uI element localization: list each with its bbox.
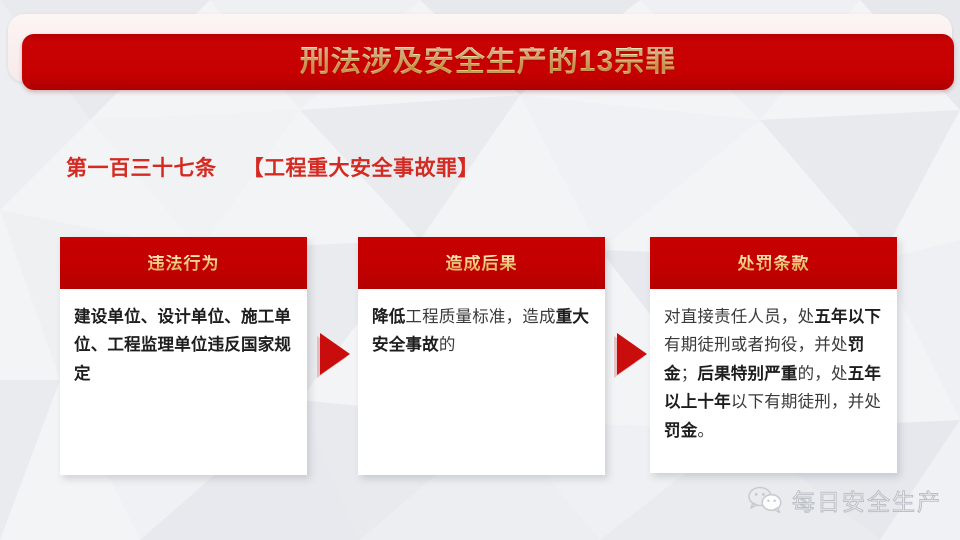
arrow-right-icon bbox=[612, 332, 648, 378]
card-header-label: 处罚条款 bbox=[738, 255, 810, 272]
card-body-text: 降低工程质量标准，造成重大安全事故的 bbox=[372, 308, 589, 354]
card-body-text: 建设单位、设计单位、施工单位、工程监理单位违反国家规定 bbox=[74, 308, 291, 383]
emphasis-text: 后果特别严重 bbox=[697, 365, 797, 383]
normal-text: 工程质量标准，造成 bbox=[405, 308, 555, 326]
presentation-slide: 刑法涉及安全生产的13宗罪 第一百三十七条【工程重大安全事故罪】 违法行为 建设… bbox=[0, 0, 960, 540]
normal-text: 。 bbox=[697, 422, 714, 440]
info-card-penalty: 处罚条款 对直接责任人员，处五年以下有期徒刑或者拘役，并处罚金；后果特别严重的，… bbox=[650, 237, 897, 473]
normal-text: ； bbox=[681, 365, 698, 383]
emphasis-text: 五年以下 bbox=[814, 308, 881, 326]
card-body: 建设单位、设计单位、施工单位、工程监理单位违反国家规定 bbox=[60, 289, 307, 398]
normal-text: 以下有期徒刑，并处 bbox=[731, 393, 881, 411]
arrow-triangle bbox=[320, 333, 350, 375]
normal-text: 有期徒刑或者拘役，并处 bbox=[664, 336, 848, 354]
normal-text: 的 bbox=[439, 336, 456, 354]
title-bar: 刑法涉及安全生产的13宗罪 bbox=[22, 34, 954, 90]
normal-text: 对直接责任人员，处 bbox=[664, 308, 814, 326]
page-title: 刑法涉及安全生产的13宗罪 bbox=[300, 47, 676, 77]
card-body-text: 对直接责任人员，处五年以下有期徒刑或者拘役，并处罚金；后果特别严重的，处五年以上… bbox=[664, 308, 881, 440]
card-header-label: 违法行为 bbox=[148, 255, 220, 272]
info-card-consequence: 造成后果 降低工程质量标准，造成重大安全事故的 bbox=[358, 237, 605, 475]
card-body: 降低工程质量标准，造成重大安全事故的 bbox=[358, 289, 605, 370]
watermark: 每日安全生产 bbox=[748, 483, 942, 517]
arrow-right-icon bbox=[315, 332, 351, 378]
card-header: 违法行为 bbox=[60, 237, 307, 289]
emphasis-text: 建设单位、设计单位、施工单位、工程监理单位违反国家规定 bbox=[74, 308, 291, 383]
arrow-triangle bbox=[617, 333, 647, 375]
normal-text: 的，处 bbox=[798, 365, 848, 383]
card-header: 处罚条款 bbox=[650, 237, 897, 289]
wechat-icon bbox=[748, 486, 782, 514]
crime-name: 【工程重大安全事故罪】 bbox=[243, 157, 480, 180]
emphasis-text: 降低 bbox=[372, 308, 405, 326]
info-card-violation: 违法行为 建设单位、设计单位、施工单位、工程监理单位违反国家规定 bbox=[60, 237, 307, 475]
title-bar-frame: 刑法涉及安全生产的13宗罪 bbox=[8, 14, 952, 82]
card-header-label: 造成后果 bbox=[446, 255, 518, 272]
emphasis-text: 罚金 bbox=[664, 422, 697, 440]
watermark-label: 每日安全生产 bbox=[792, 483, 942, 517]
article-subtitle: 第一百三十七条【工程重大安全事故罪】 bbox=[66, 152, 479, 182]
article-number: 第一百三十七条 bbox=[66, 157, 217, 180]
card-body: 对直接责任人员，处五年以下有期徒刑或者拘役，并处罚金；后果特别严重的，处五年以上… bbox=[650, 289, 897, 455]
card-header: 造成后果 bbox=[358, 237, 605, 289]
